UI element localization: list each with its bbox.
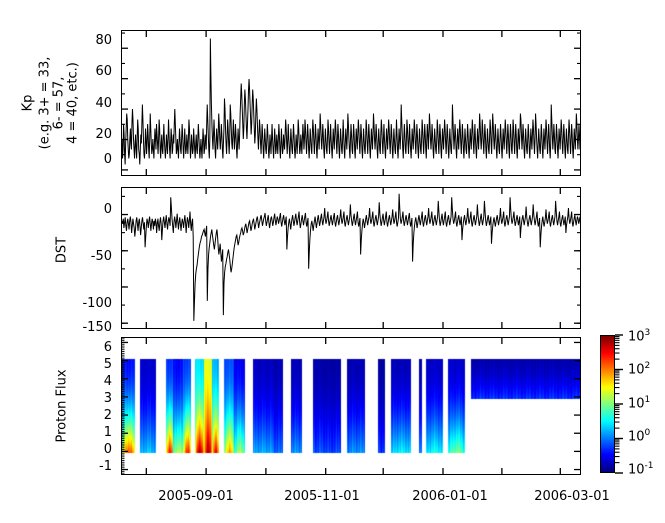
- cbar-label-1em1-exponent: -1: [645, 461, 654, 471]
- cbar-label-1e2-exponent: 2: [645, 361, 651, 371]
- cbar-label-1e3: 103: [628, 328, 650, 344]
- kp-ytick-80: 80: [82, 33, 112, 48]
- cbar-label-1e2: 102: [628, 361, 650, 377]
- dst-ytick-minus100: -100: [72, 296, 112, 311]
- flux-ytick-5: 5: [88, 357, 112, 372]
- kp-axis-label-line4: 4 = 40, etc.): [66, 62, 81, 144]
- cbar-label-1e0: 100: [628, 428, 650, 444]
- flux-axis-label: Proton Flux: [55, 369, 70, 442]
- kp-ytick-60: 60: [82, 64, 112, 79]
- flux-ytick-1: 1: [88, 425, 112, 440]
- flux-ytick-4: 4: [88, 374, 112, 389]
- kp-series-plot: [122, 31, 580, 175]
- proton-flux-spectrogram: [122, 338, 580, 474]
- cbar-label-1e1: 101: [628, 395, 650, 411]
- cbar-label-1e0-mantissa: 10: [628, 429, 645, 444]
- panel-proton-flux: [121, 337, 581, 475]
- kp-axis-label-line2: (e.g. 3+ = 33,: [38, 57, 53, 150]
- kp-axis-label-line3: 6- = 57,: [52, 77, 67, 130]
- panel-kp-index: [121, 30, 581, 176]
- xtick-2005-09-01: 2005-09-01: [146, 489, 246, 504]
- kp-ytick-40: 40: [82, 96, 112, 111]
- xtick-2006-01-01: 2006-01-01: [400, 489, 500, 504]
- dst-ytick-minus150: -150: [72, 320, 112, 335]
- cbar-label-1e3-mantissa: 10: [628, 329, 645, 344]
- cbar-label-1e1-mantissa: 10: [628, 396, 645, 411]
- kp-axis-label-line1: Kp: [21, 95, 36, 112]
- figure-root: Kp (e.g. 3+ = 33, 6- = 57, 4 = 40, etc.)…: [0, 0, 665, 523]
- dst-ytick-0: 0: [72, 202, 112, 217]
- colorbar-gradient: [601, 336, 614, 472]
- kp-ytick-0: 0: [82, 152, 112, 167]
- flux-ytick-2: 2: [88, 408, 112, 423]
- dst-axis-label: DST: [55, 237, 70, 263]
- colorbar: [600, 335, 615, 473]
- panel-dst-index: [121, 187, 581, 329]
- flux-ytick-3: 3: [88, 391, 112, 406]
- cbar-label-1e3-exponent: 3: [645, 328, 651, 338]
- cbar-label-1em1: 10-1: [628, 461, 654, 477]
- flux-ytick-minus1: -1: [82, 459, 112, 474]
- cbar-label-1e0-exponent: 0: [645, 428, 651, 438]
- dst-ytick-minus50: -50: [72, 249, 112, 264]
- xtick-2006-03-01: 2006-03-01: [522, 489, 622, 504]
- cbar-label-1e2-mantissa: 10: [628, 362, 645, 377]
- xtick-2005-11-01: 2005-11-01: [272, 489, 372, 504]
- flux-ytick-0: 0: [88, 442, 112, 457]
- cbar-label-1em1-mantissa: 10: [628, 462, 645, 477]
- flux-ytick-6: 6: [88, 340, 112, 355]
- kp-ytick-20: 20: [82, 127, 112, 142]
- dst-series-plot: [122, 188, 580, 328]
- cbar-label-1e1-exponent: 1: [645, 395, 651, 405]
